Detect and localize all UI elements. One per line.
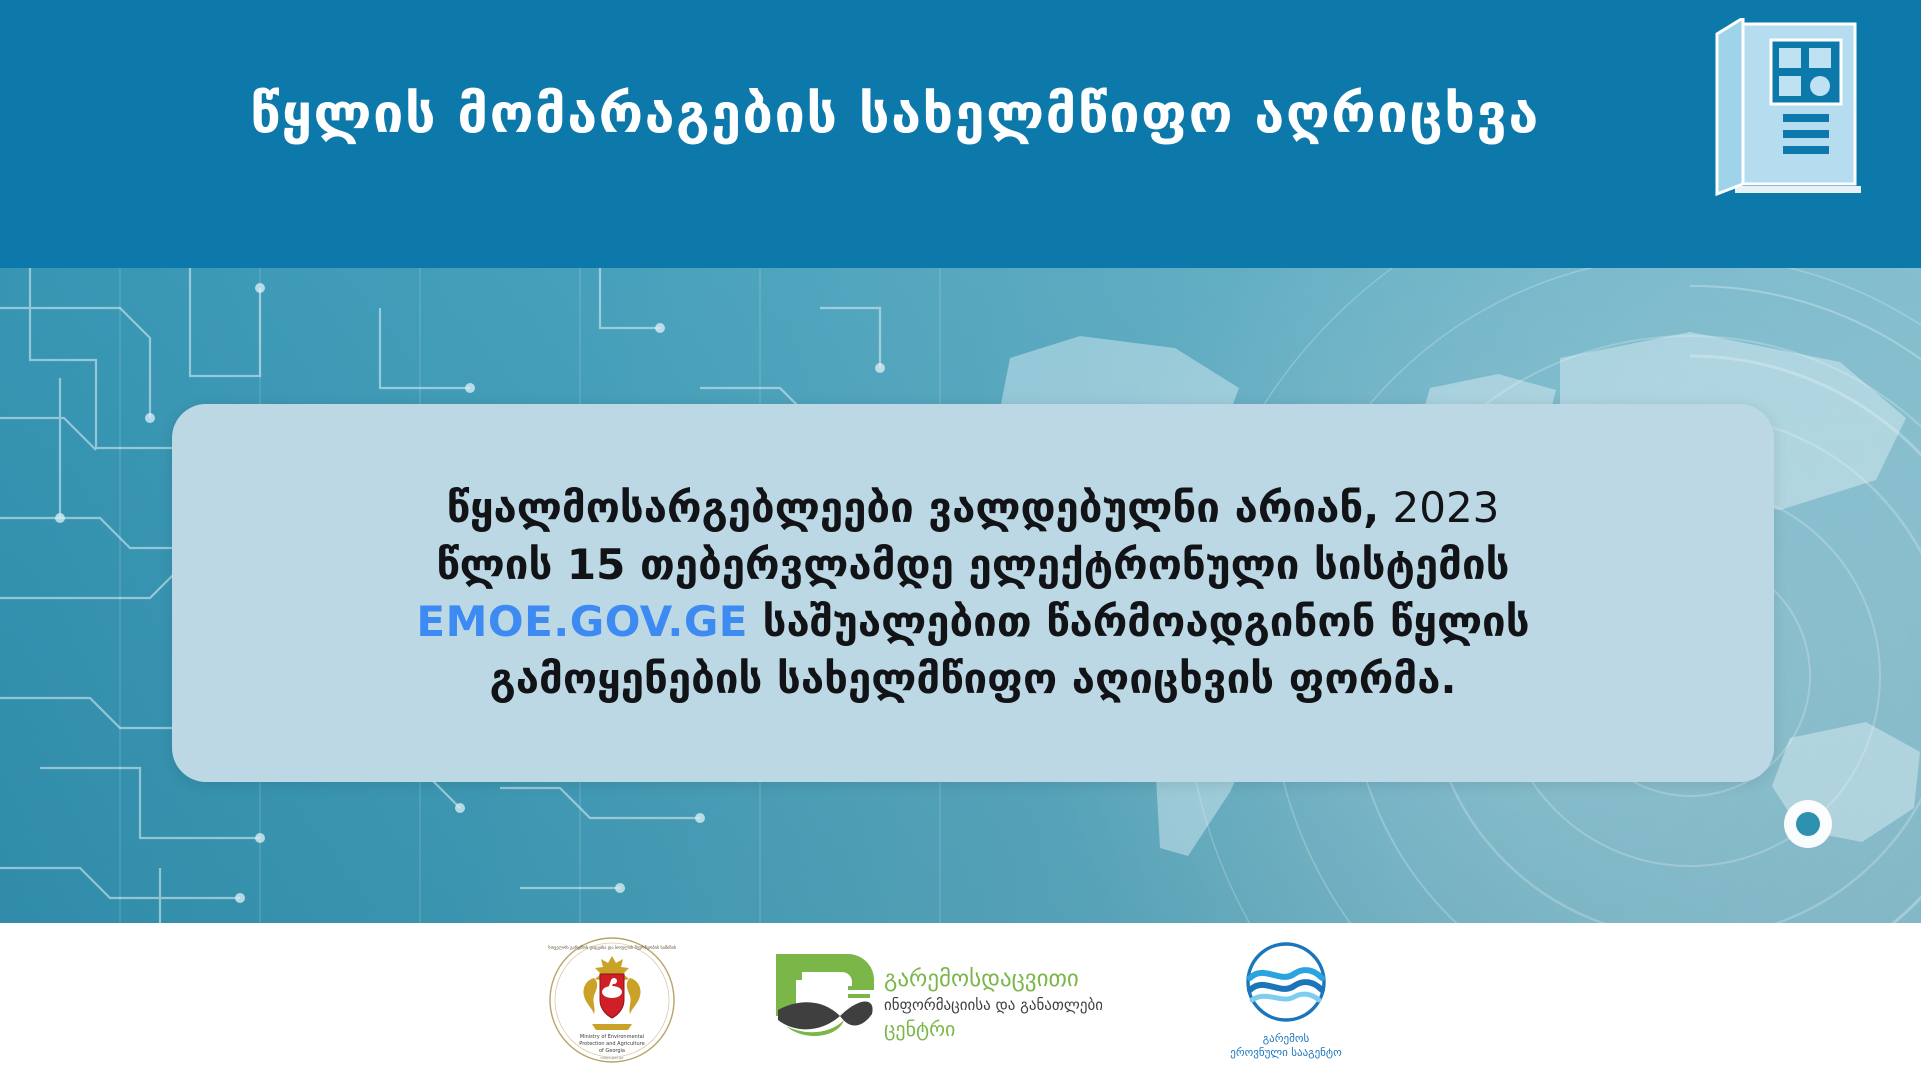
- eiec-title-line-3: ცენტრი: [884, 1017, 955, 1041]
- emoe-gov-ge-link[interactable]: EMOE.GOV.GE: [416, 597, 748, 646]
- card-line-4: გამოყენების სახელმწიფო აღიცხვის ფორმა.: [273, 650, 1673, 707]
- nea-title-line-2: ეროვნული სააგენტო: [1230, 1046, 1342, 1059]
- seal-url: mepa.gov.ge: [600, 1056, 624, 1060]
- seal-ring-text: საქართველოს გარემოს დაცვისა და სოფლის მე…: [548, 946, 676, 951]
- header-bar: წყლის მომარაგების სახელმწიფო აღრიცხვა: [0, 0, 1921, 268]
- environmental-info-education-centre-logo: გარემოსდაცვითი ინფორმაციისა და განათლები…: [772, 948, 1102, 1056]
- seal-name-en-1: Ministry of Environmental: [579, 1034, 643, 1040]
- card-text-block: წყალმოსარგებლეები ვალდებულნი არიან, 2023…: [253, 479, 1693, 707]
- page-title: წყლის მომარაგების სახელმწიფო აღრიცხვა: [0, 84, 1790, 143]
- background-area: წყალმოსარგებლეები ვალდებულნი არიან, 2023…: [0, 268, 1921, 923]
- card-line-2: წლის 15 თებერვლამდე ელექტრონული სისტემის: [273, 536, 1673, 593]
- card-line-3-rest: საშუალებით წარმოადგინონ წყლის: [763, 597, 1530, 646]
- card-line-1: წყალმოსარგებლეები ვალდებულნი არიან, 2023: [273, 479, 1673, 536]
- card-line-3: EMOE.GOV.GE საშუალებით წარმოადგინონ წყლი…: [273, 593, 1673, 650]
- ministry-seal-logo: საქართველოს გარემოს დაცვისა და სოფლის მე…: [548, 936, 676, 1068]
- eiec-title-line-2: ინფორმაციისა და განათლების: [884, 996, 1102, 1014]
- seal-name-en-2: Protection and Agriculture: [579, 1041, 644, 1047]
- content-card: წყალმოსარგებლეები ვალდებულნი არიან, 2023…: [172, 404, 1774, 782]
- nea-title-line-1: გარემოს: [1262, 1032, 1309, 1045]
- water-cabinet-icon: [1713, 18, 1863, 208]
- card-line-1-year: 2023: [1393, 483, 1500, 532]
- seal-name-en-3: of Georgia: [598, 1048, 624, 1054]
- eiec-title-line-1: გარემოსდაცვითი: [884, 966, 1079, 992]
- footer-logo-bar: საქართველოს გარემოს დაცვისა და სოფლის მე…: [0, 923, 1921, 1081]
- poster-root: წყლის მომარაგების სახელმწიფო აღრიცხვა: [0, 0, 1921, 1081]
- national-environmental-agency-logo: გარემოს ეროვნული სააგენტო: [1198, 938, 1374, 1066]
- card-line-1-bold: წყალმოსარგებლეები ვალდებულნი არიან,: [447, 483, 1380, 532]
- map-pin-marker: [1784, 800, 1832, 848]
